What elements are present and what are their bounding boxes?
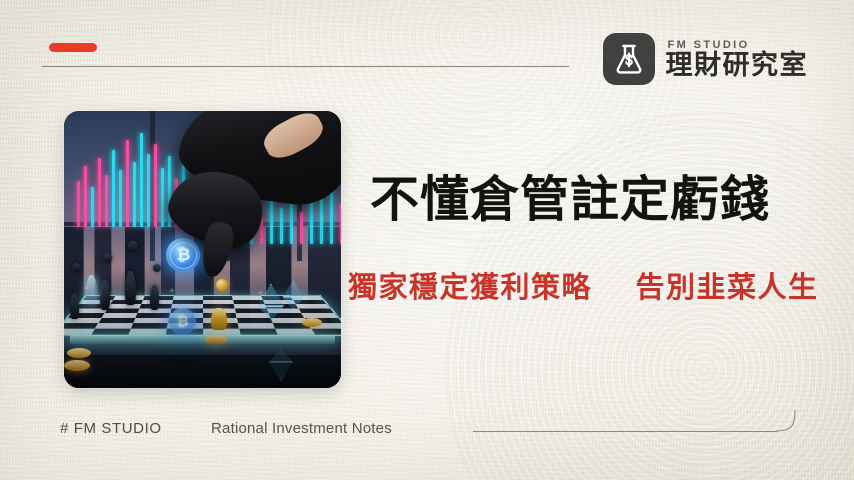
page-title: 不懂倉管註定虧錢 <box>370 160 770 231</box>
subtitle-right: 告別韭菜人生 <box>636 272 819 304</box>
flask-dollar-icon <box>614 43 644 75</box>
brand-text: FM STUDIO 理財研究室 <box>666 39 809 79</box>
poster-canvas: FM STUDIO 理財研究室 <box>0 0 854 480</box>
brand-badge <box>603 33 655 85</box>
footer-note: Rational Investment Notes <box>211 420 392 437</box>
footer-divider <box>473 431 777 432</box>
hero-image: ₿ ₿ <box>64 111 341 388</box>
subtitle-left: 獨家穩定獲利策略 <box>348 272 592 304</box>
brand-lockup: FM STUDIO 理財研究室 <box>603 33 809 85</box>
accent-bar <box>49 43 97 52</box>
brand-name: 理財研究室 <box>666 52 809 79</box>
subtitle: 獨家穩定獲利策略 告別韭菜人生 <box>348 264 819 306</box>
footer-corner-flourish <box>775 409 797 433</box>
photo-shading <box>64 111 341 388</box>
footer-tag: # FM STUDIO <box>60 420 162 437</box>
header-divider <box>42 66 569 67</box>
